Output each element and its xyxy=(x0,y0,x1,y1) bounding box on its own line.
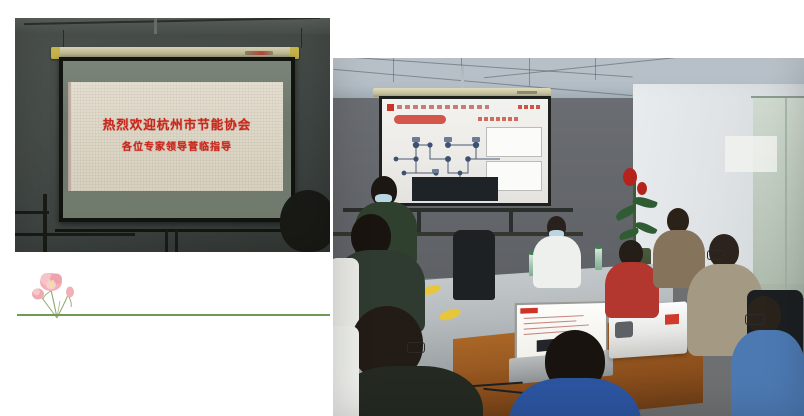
floral-divider xyxy=(17,268,331,330)
projector-label xyxy=(665,314,679,325)
slide-canvas: 热烈欢迎杭州市节能协会 各位专家领导菅临指导 xyxy=(0,0,804,416)
plant-red-flower xyxy=(623,168,637,186)
wall-post xyxy=(43,194,47,252)
left-photo-projector-screen: 热烈欢迎杭州市节能协会 各位专家领导菅临指导 xyxy=(15,18,330,252)
screen-drop-rod xyxy=(461,66,464,90)
ceiling-joint xyxy=(154,18,157,34)
projector-lens xyxy=(615,321,633,338)
projected-slide-area: 热烈欢迎杭州市节能协会 各位专家领导菅临指导 xyxy=(71,82,283,191)
slide-header-right-text xyxy=(518,105,540,109)
slide-header-title-text xyxy=(397,105,489,109)
welcome-slide-line2: 各位专家领导菅临指导 xyxy=(71,138,283,153)
screen-support-right xyxy=(175,230,178,252)
slide-subtitle-text xyxy=(478,117,518,121)
slide-data-table-upper xyxy=(486,127,542,157)
wall-notice xyxy=(725,136,777,172)
slide-header xyxy=(384,104,546,111)
office-chair-foreground xyxy=(333,326,359,416)
pink-flower-icon xyxy=(27,268,89,320)
room-case-label xyxy=(517,91,537,94)
slide-dark-inset-panel xyxy=(412,177,498,201)
presentation-slide xyxy=(382,99,548,203)
plant-red-flower xyxy=(637,182,647,195)
slide-section-pill xyxy=(394,115,446,124)
glass-partition xyxy=(753,98,804,298)
audience-head-silhouette xyxy=(280,190,330,252)
screen-hanger-left xyxy=(63,30,64,48)
laptop-slide-accent xyxy=(520,308,537,314)
right-photo-meeting-room xyxy=(333,58,804,416)
divider-rule xyxy=(17,314,330,316)
welcome-slide-line1: 热烈欢迎杭州市节能协会 xyxy=(71,114,283,133)
room-projection-screen xyxy=(379,96,551,206)
screen-hanger-right xyxy=(301,28,302,48)
wall-ledge-lower xyxy=(15,233,135,236)
glass-mullion xyxy=(785,98,787,298)
ceiling-rail xyxy=(24,18,320,25)
slide-header-marker xyxy=(387,104,394,111)
water-bottle xyxy=(595,248,602,270)
projection-screen-frame: 热烈欢迎杭州市节能协会 各位专家领导菅临指导 xyxy=(59,57,295,222)
screen-support-left xyxy=(165,230,168,252)
window-rail-post-1 xyxy=(417,208,421,234)
glass-frame-top xyxy=(751,96,804,98)
case-brand-label xyxy=(245,51,273,55)
window-rail-post-2 xyxy=(509,208,513,234)
office-chair-mid xyxy=(453,230,495,300)
